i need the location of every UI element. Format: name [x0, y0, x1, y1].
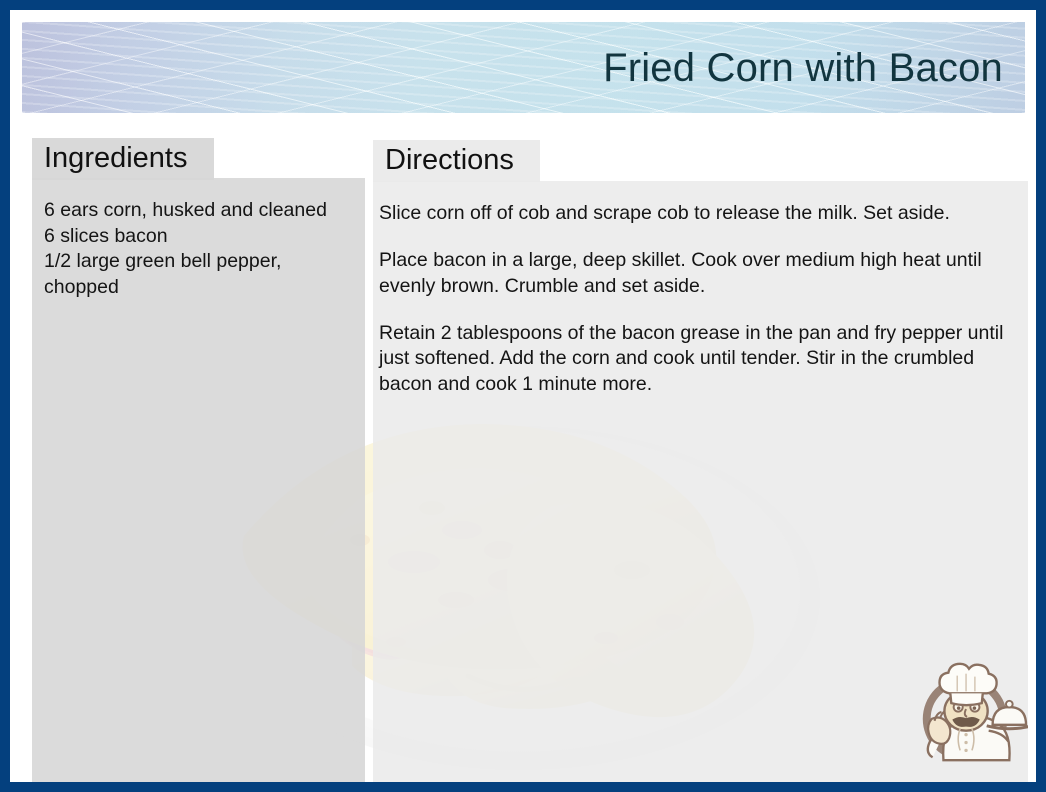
direction-step: Slice corn off of cob and scrape cob to …: [379, 201, 1016, 226]
direction-step: Retain 2 tablespoons of the bacon grease…: [379, 321, 1016, 397]
chef-logo: [910, 654, 1028, 772]
chef-logo-icon: [910, 654, 1028, 772]
page-title: Fried Corn with Bacon: [603, 47, 1003, 89]
ingredients-list: 6 ears corn, husked and cleaned 6 slices…: [44, 198, 349, 301]
ingredients-heading: Ingredients: [32, 138, 214, 180]
directions-heading: Directions: [373, 140, 540, 182]
direction-step: Place bacon in a large, deep skillet. Co…: [379, 248, 1016, 299]
slide-canvas: Fried Corn with Bacon Ingredients 6 ears…: [10, 10, 1036, 782]
ingredients-panel: 6 ears corn, husked and cleaned 6 slices…: [32, 178, 365, 782]
recipe-slide: Fried Corn with Bacon Ingredients 6 ears…: [0, 0, 1046, 792]
title-banner: Fried Corn with Bacon: [22, 22, 1025, 113]
